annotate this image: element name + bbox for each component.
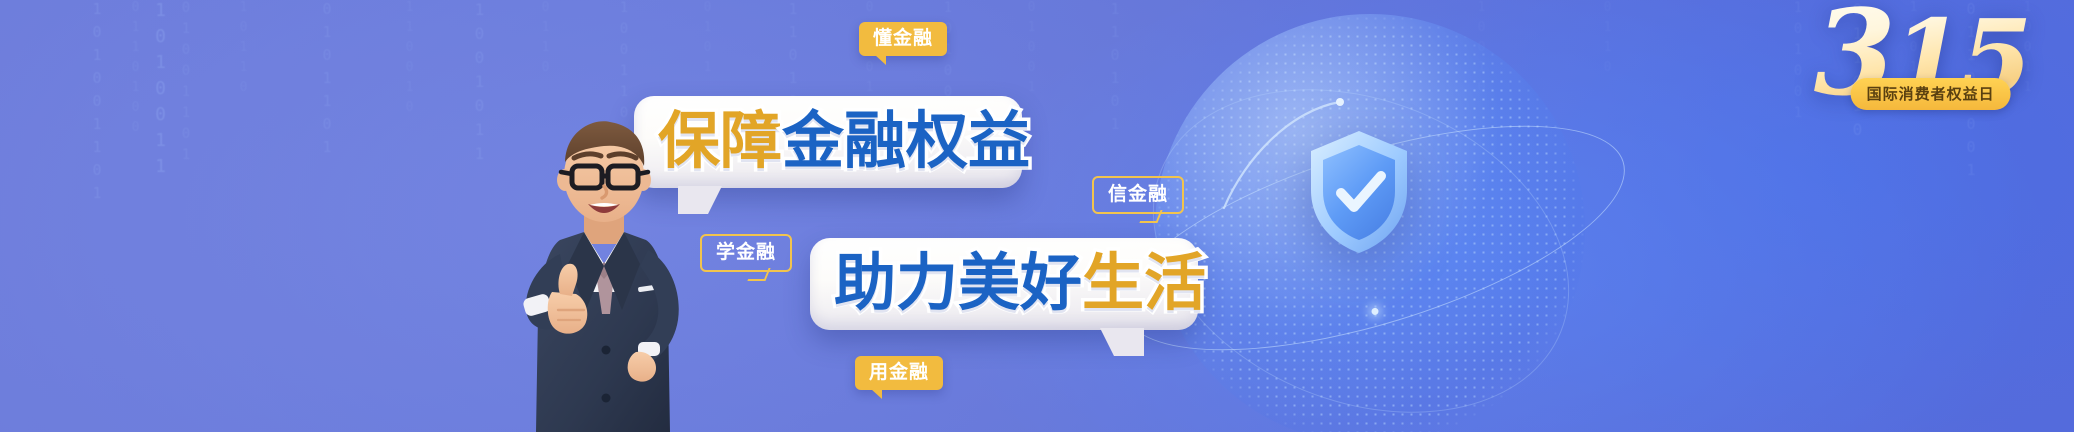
businessman-mascot	[498, 114, 708, 432]
keyword-tag-label: 懂金融	[873, 27, 933, 49]
keyword-tag[interactable]: 懂金融	[859, 22, 947, 56]
keyword-tag-pointer	[875, 55, 886, 65]
plate-tail	[1100, 328, 1144, 356]
keyword-tag-pointer	[871, 389, 882, 399]
headline-secondary: 助力美好生活	[834, 252, 1206, 314]
headline-plate-secondary: 助力美好生活	[810, 238, 1198, 330]
binary-column: 1001011	[470, 0, 489, 168]
keyword-tag-label: 学金融	[716, 241, 776, 263]
headline-primary-blue: 金融权益	[782, 104, 1030, 177]
binary-column: 1010011	[150, 0, 171, 182]
headline-secondary-blue: 助力美好	[834, 246, 1082, 319]
orbit-node-dot	[1371, 307, 1380, 316]
keyword-tag[interactable]: 学金融	[700, 234, 792, 272]
logo-315: 315 国际消费者权益日	[1806, 0, 2036, 114]
shield-check-icon	[1304, 128, 1414, 256]
binary-column: 110010	[402, 0, 417, 120]
binary-column: 0110	[538, 0, 553, 80]
binary-column: 01001	[1024, 0, 1039, 100]
binary-column: 0101101	[318, 0, 336, 161]
keyword-tag-label: 用金融	[869, 361, 929, 383]
binary-column: 0110	[1600, 0, 1615, 80]
binary-column: 10110	[236, 0, 251, 100]
binary-column: 0101	[700, 0, 715, 80]
keyword-tag[interactable]: 用金融	[855, 356, 943, 390]
promo-banner: 1010011010110100101001101001101101100101…	[0, 0, 2074, 432]
logo-subtitle-pill: 国际消费者权益日	[1851, 78, 2011, 110]
binary-column: 01001101	[178, 0, 194, 168]
binary-column: 101001101	[88, 0, 106, 207]
binary-column: 101001	[1790, 0, 1806, 126]
binary-code-background: 1010011010110100101001101001101101100101…	[0, 0, 2074, 432]
headline-primary: 保障金融权益	[658, 110, 1030, 172]
keyword-tag[interactable]: 信金融	[1092, 176, 1184, 214]
keyword-tag-label: 信金融	[1108, 183, 1168, 205]
binary-column: 0110100	[128, 0, 143, 140]
binary-column: 110101	[1106, 0, 1124, 138]
headline-secondary-gold: 生活	[1082, 246, 1206, 319]
